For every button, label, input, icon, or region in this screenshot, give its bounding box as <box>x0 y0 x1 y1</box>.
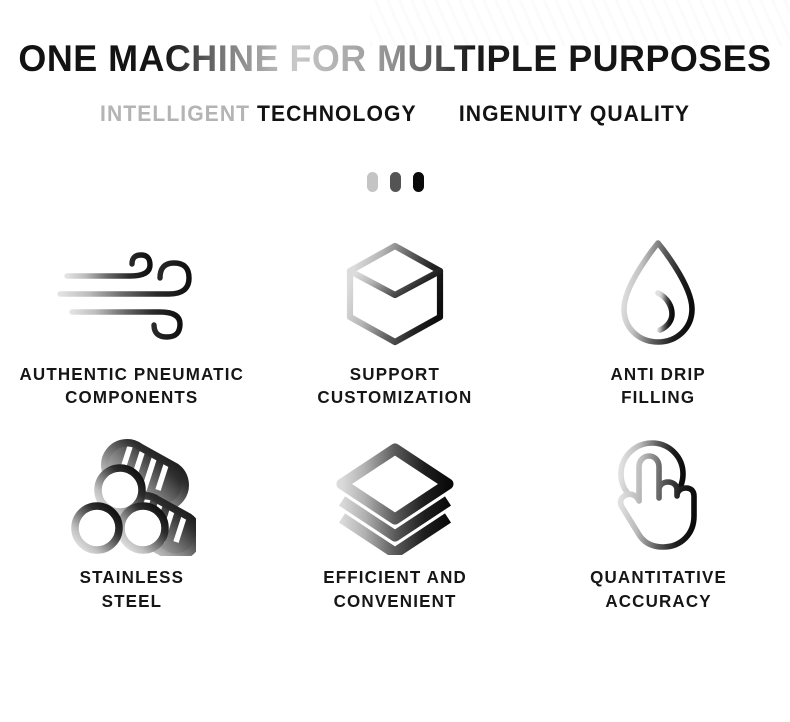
tap-hand-icon <box>603 438 713 556</box>
steel-pipes-icon-box <box>68 438 196 556</box>
wind-icon <box>56 239 208 349</box>
subtitle-part-technology: TECHNOLOGY <box>250 101 417 126</box>
page-title: ONE MACHINE FOR MULTIPLE PURPOSES <box>12 40 778 79</box>
subtitle: INTELLIGENT TECHNOLOGYINGENUITY QUALITY <box>16 101 774 127</box>
feature-item-customization: SUPPORT CUSTOMIZATION <box>263 235 526 410</box>
feature-label-anti-drip: ANTI DRIP FILLING <box>611 363 706 410</box>
feature-label-pneumatic: AUTHENTIC PNEUMATIC COMPONENTS <box>19 363 244 410</box>
feature-label-quantitative-accuracy: QUANTITATIVE ACCURACY <box>590 566 727 613</box>
tap-hand-icon-box <box>603 438 713 556</box>
feature-label-efficient: EFFICIENT AND CONVENIENT <box>323 566 467 613</box>
feature-label-stainless-steel: STAINLESS STEEL <box>79 566 183 613</box>
feature-item-pneumatic: AUTHENTIC PNEUMATIC COMPONENTS <box>0 235 263 410</box>
layers-icon <box>330 439 460 555</box>
cube-icon <box>339 238 451 350</box>
subtitle-part-ingenuity-quality: INGENUITY QUALITY <box>459 101 690 126</box>
feature-item-anti-drip: ANTI DRIP FILLING <box>527 235 790 410</box>
dot-medium-icon <box>390 172 401 192</box>
wind-icon-box <box>56 235 208 353</box>
dots-divider <box>0 171 790 193</box>
feature-item-stainless-steel: STAINLESS STEEL <box>0 438 263 613</box>
dot-light-icon <box>367 172 378 192</box>
feature-item-efficient: EFFICIENT AND CONVENIENT <box>263 438 526 613</box>
feature-grid: AUTHENTIC PNEUMATIC COMPONENTS <box>0 235 790 614</box>
poster-root: ONE MACHINE FOR MULTIPLE PURPOSES INTELL… <box>0 0 790 722</box>
dot-dark-icon <box>413 172 424 192</box>
feature-label-customization: SUPPORT CUSTOMIZATION <box>317 363 472 410</box>
subtitle-part-intelligent: INTELLIGENT <box>100 101 250 126</box>
water-drop-icon <box>612 236 704 351</box>
cube-icon-box <box>339 235 451 353</box>
layers-icon-box <box>330 438 460 556</box>
water-drop-icon-box <box>612 235 704 353</box>
steel-pipes-icon <box>68 438 196 556</box>
feature-item-quantitative-accuracy: QUANTITATIVE ACCURACY <box>527 438 790 613</box>
header: ONE MACHINE FOR MULTIPLE PURPOSES INTELL… <box>0 0 790 127</box>
